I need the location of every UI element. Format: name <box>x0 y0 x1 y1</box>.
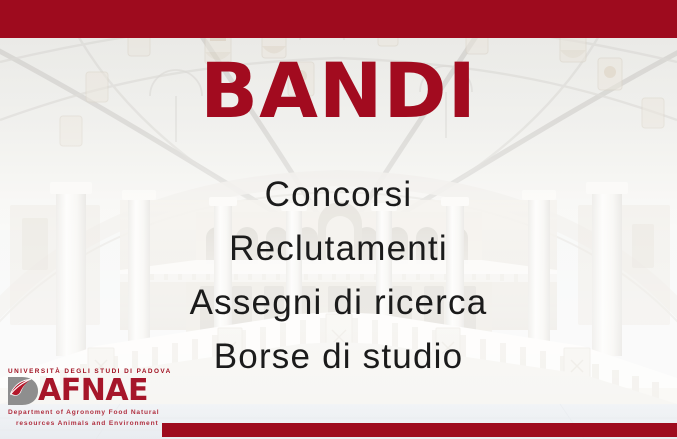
logo-mark-row: AFNAE <box>6 376 171 406</box>
dafnae-leaf-d-icon <box>6 376 39 406</box>
list-item: Reclutamenti <box>0 222 677 276</box>
logo-acronym: AFNAE <box>38 376 148 406</box>
dafnae-logo: UNIVERSITÀ DEGLI STUDI DI PADOVA AFNAE D… <box>6 368 171 428</box>
top-red-band <box>0 0 677 38</box>
logo-department-line-2: resources Animals and Environment <box>16 419 171 428</box>
list-item: Assegni di ricerca <box>0 276 677 330</box>
page-title: BANDI <box>0 53 677 129</box>
category-list: Concorsi Reclutamenti Assegni di ricerca… <box>0 168 677 384</box>
list-item: Concorsi <box>0 168 677 222</box>
logo-department-line-1: Department of Agronomy Food Natural <box>8 408 171 417</box>
bottom-red-band <box>162 423 677 437</box>
poster-canvas: BANDI Concorsi Reclutamenti Assegni di r… <box>0 0 677 439</box>
